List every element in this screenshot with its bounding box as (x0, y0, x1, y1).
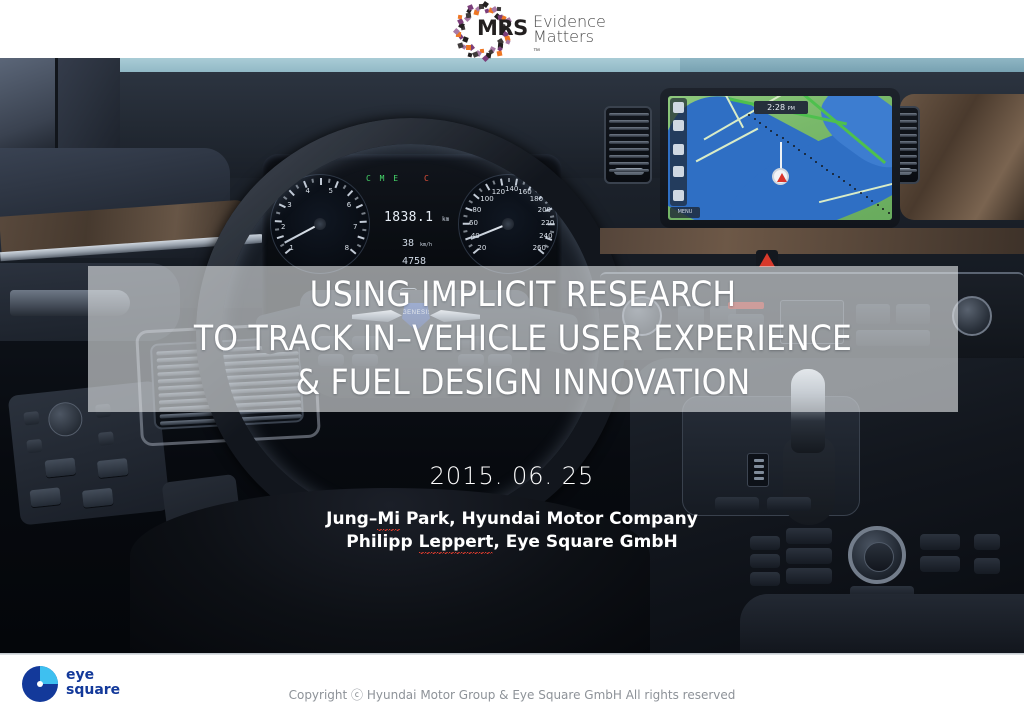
console-button-seek-down[interactable] (920, 556, 960, 572)
console-button-eject[interactable] (974, 558, 1000, 574)
mirror-fold-button (26, 439, 42, 453)
author1-misspelled: Mi (377, 508, 400, 531)
mrs-acronym: MRS (477, 16, 528, 40)
map-warning-marker-icon (772, 168, 789, 185)
mrs-tagline: Evidence Matters™ (533, 14, 606, 59)
nav-volume-icon[interactable] (673, 144, 684, 155)
nav-clock: 2:28 PM (754, 101, 808, 114)
navigation-screen[interactable]: 2:28 PM MENU (668, 96, 892, 220)
eye-square-quadrant (40, 666, 58, 684)
dash-wood-strip (600, 228, 1024, 254)
title-line-3: & FUEL DESIGN INNOVATION (296, 361, 751, 405)
navigation-display-bezel: 2:28 PM MENU (660, 88, 900, 228)
shifter-plate (682, 396, 860, 516)
author-line-2: Philipp Leppert, Eye Square GmbH (0, 531, 1024, 554)
author1-pre: Jung– (326, 509, 377, 529)
eye-square-line1: eye (66, 668, 120, 683)
console-button-back[interactable] (786, 568, 832, 584)
console-button-nav[interactable] (750, 554, 780, 568)
trademark-symbol: ™ (533, 44, 606, 59)
mrs-tagline-line2: Matters™ (533, 29, 606, 59)
mirror-heat-button (98, 431, 114, 445)
center-air-vent-left (604, 106, 652, 184)
brand-bar: MRS Evidence Matters™ (0, 0, 1024, 58)
mirror-adjust-dial (47, 401, 84, 438)
nav-home-icon[interactable] (673, 102, 684, 113)
window-switch-rear-right (82, 488, 114, 508)
author2-post: , Eye Square GmbH (493, 532, 677, 552)
author2-misspelled: Leppert (419, 531, 494, 554)
footer-divider (0, 653, 1024, 655)
map-marker-stem (780, 142, 782, 170)
author2-pre: Philipp (346, 532, 418, 552)
climate-knob-passenger[interactable] (952, 296, 992, 336)
mrs-evidence-matters-logo: MRS Evidence Matters™ (455, 3, 615, 57)
author-line-1: Jung–Mi Park, Hyundai Motor Company (0, 508, 1024, 531)
console-armrest (740, 594, 1024, 653)
title-line-1: USING IMPLICIT RESEARCH (310, 273, 737, 317)
copyright-notice: Copyright ⓒ Hyundai Motor Group & Eye Sq… (0, 686, 1024, 703)
nav-menu-button[interactable]: MENU (670, 207, 700, 218)
window-trim (0, 58, 58, 150)
car-interior-photo: 12345678 2040608010012014016018020022024… (0, 58, 1024, 653)
console-button-info[interactable] (750, 572, 780, 586)
slide-title: USING IMPLICIT RESEARCH TO TRACK IN–VEHI… (88, 266, 958, 412)
nav-zoom-in-icon[interactable] (673, 166, 684, 177)
mirror-select-left-button (23, 411, 39, 425)
presentation-date: 2015. 06. 25 (0, 462, 1024, 490)
author-block: Jung–Mi Park, Hyundai Motor Company Phil… (0, 508, 1024, 554)
presentation-slide: MRS Evidence Matters™ (0, 0, 1024, 710)
window-switch-rear-left (30, 487, 62, 507)
nav-icon-sidebar[interactable] (670, 98, 687, 206)
author1-post: Park, Hyundai Motor Company (400, 509, 698, 529)
title-line-2: TO TRACK IN–VEHICLE USER EXPERIENCE (194, 317, 852, 361)
nav-zoom-out-icon[interactable] (673, 190, 684, 201)
nav-compass-icon[interactable] (673, 120, 684, 131)
